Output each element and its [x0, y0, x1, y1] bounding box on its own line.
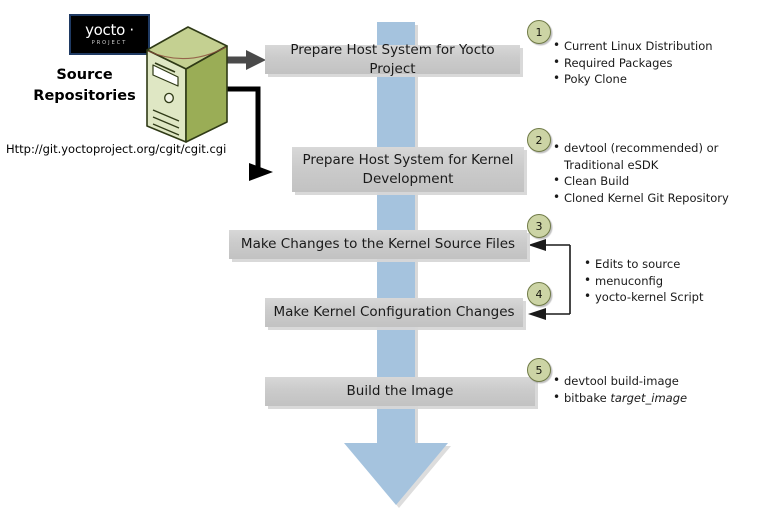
list-item: Edits to source [584, 256, 704, 273]
process-box-prepare-host-kernel[interactable]: Prepare Host System for Kernel Developme… [292, 147, 524, 192]
list-item: Clean Build [553, 173, 729, 190]
process-box-label: Make Changes to the Kernel Source Files [233, 235, 523, 254]
list-item: yocto-kernel Script [584, 289, 704, 306]
process-box-label: Make Kernel Configuration Changes [265, 303, 522, 322]
bitbake-command-prefix: bitbake [564, 391, 610, 405]
list-item: devtool (recommended) or Traditional eSD… [553, 140, 729, 173]
process-box-make-config-changes[interactable]: Make Kernel Configuration Changes [265, 298, 523, 327]
step-5-bullet-list: devtool build-image bitbake target_image [553, 373, 687, 406]
list-item: bitbake target_image [553, 390, 687, 407]
list-item: Required Packages [553, 55, 713, 72]
process-box-label: Prepare Host System for Kernel Developme… [292, 151, 524, 189]
list-item: Cloned Kernel Git Repository [553, 190, 729, 207]
step-1-bullet-list: Current Linux Distribution Required Pack… [553, 38, 713, 88]
process-box-make-source-changes[interactable]: Make Changes to the Kernel Source Files [229, 230, 527, 259]
source-repositories-label: Source Repositories [22, 65, 147, 107]
connector-bracket-steps-3-4 [528, 239, 570, 320]
step-badge-5: 5 [527, 358, 551, 382]
source-repository-url: Http://git.yoctoproject.org/cgit/cgit.cg… [6, 142, 226, 156]
list-item: Current Linux Distribution [553, 38, 713, 55]
bitbake-target-image-arg: target_image [610, 391, 687, 405]
kernel-development-flow-diagram: yocto · PROJECT Source Repositories Http… [0, 0, 769, 517]
yocto-logo-wordmark: yocto · [85, 23, 134, 38]
step-badge-2: 2 [527, 128, 551, 152]
process-box-label: Prepare Host System for Yocto Project [265, 41, 520, 79]
step-badge-3: 3 [527, 214, 551, 238]
list-item: menuconfig [584, 273, 704, 290]
source-repositories-label-line1: Source [22, 65, 147, 86]
step-badge-4: 4 [527, 282, 551, 306]
step-2-bullet-list: devtool (recommended) or Traditional eSD… [553, 140, 729, 206]
source-repositories-label-line2: Repositories [22, 86, 147, 107]
list-item: devtool build-image [553, 373, 687, 390]
process-box-build-image[interactable]: Build the Image [265, 377, 535, 406]
yocto-logo-subtitle: PROJECT [92, 39, 128, 47]
list-item: Poky Clone [553, 71, 713, 88]
server-icon [130, 22, 230, 152]
flow-arrow-head [344, 443, 448, 505]
process-box-prepare-host-yocto[interactable]: Prepare Host System for Yocto Project [265, 45, 520, 74]
step-badge-1: 1 [527, 20, 551, 44]
process-box-label: Build the Image [339, 382, 462, 401]
steps-3-4-bullet-list: Edits to source menuconfig yocto-kernel … [584, 256, 704, 306]
